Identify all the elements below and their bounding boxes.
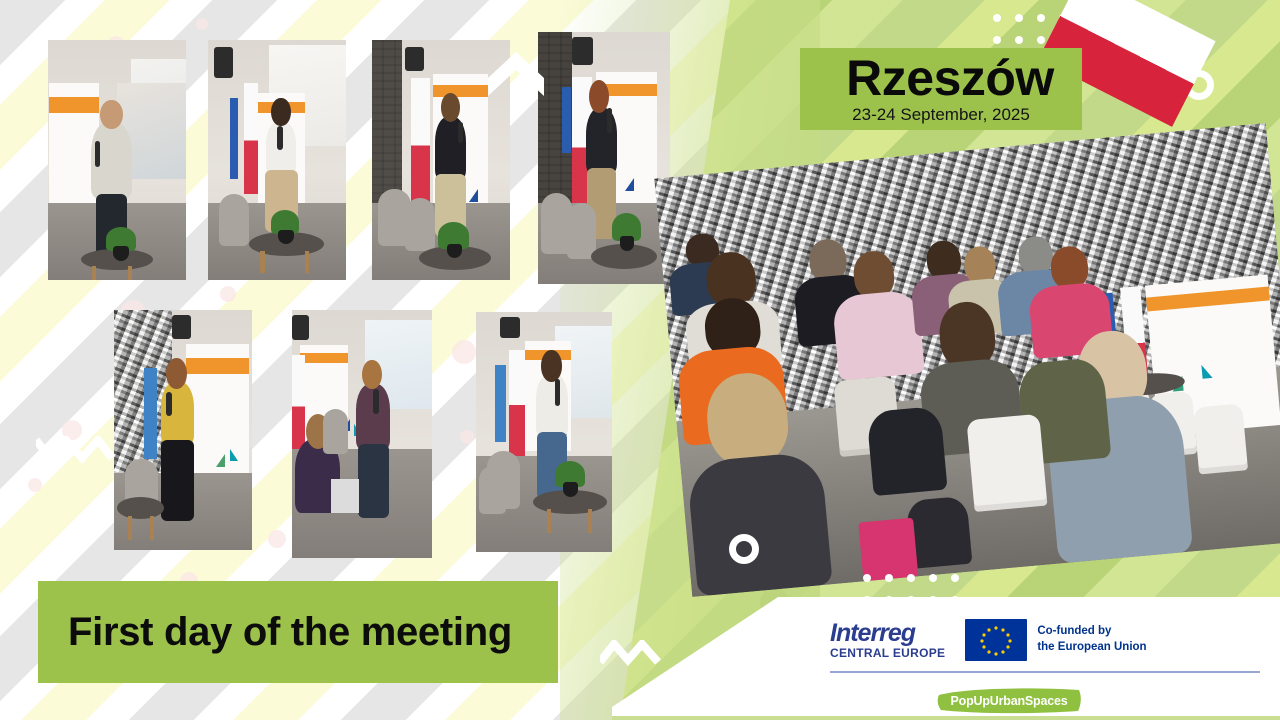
collage-photo-5: [114, 310, 252, 550]
slide-caption: First day of the meeting: [68, 610, 512, 655]
collage-photo-6: [292, 310, 432, 558]
city-title-banner: Rzeszów 23-24 September, 2025: [800, 48, 1082, 130]
collage-photo-2: [208, 40, 346, 280]
caption-banner: First day of the meeting: [38, 581, 558, 683]
footer-accent-line: [612, 716, 1280, 720]
interreg-logo: Interreg CENTRAL EUROPE: [830, 621, 945, 659]
eu-funding-line-1: Co-funded by: [1037, 624, 1146, 640]
interreg-subtitle: CENTRAL EUROPE: [830, 647, 945, 659]
eu-stars: [965, 619, 1027, 661]
zigzag-line-left: [36, 436, 116, 464]
zigzag-line-bottom: [600, 640, 664, 666]
event-dates: 23-24 September, 2025: [852, 105, 1030, 125]
city-name: Rzeszów: [846, 55, 1054, 103]
ring-outline-bottom: [729, 534, 759, 564]
chevron-up-icon: [488, 52, 544, 96]
eu-funding-text: Co-funded by the European Union: [1037, 624, 1146, 655]
decor-blob: [28, 478, 42, 492]
project-badge-label: PopUpUrbanSpaces: [935, 687, 1083, 714]
footer-divider: [830, 671, 1260, 673]
eu-funding-logo: Co-funded by the European Union: [965, 619, 1146, 661]
decor-blob: [460, 430, 474, 444]
collage-photo-1: [48, 40, 186, 280]
project-badge: PopUpUrbanSpaces: [935, 687, 1083, 714]
decor-blob: [452, 340, 476, 364]
collage-photo-8-audience: [654, 123, 1280, 597]
decor-blob: [196, 18, 208, 30]
footer-logo-row: Interreg CENTRAL EUROPE: [830, 619, 1147, 661]
decor-blob: [220, 286, 236, 302]
slide-canvas: Rzeszów 23-24 September, 2025 First day …: [0, 0, 1280, 720]
collage-photo-7: [476, 312, 612, 552]
eu-flag-icon: [965, 619, 1027, 661]
collage-photo-4: [538, 32, 670, 284]
interreg-wordmark: Interreg: [830, 621, 945, 646]
eu-funding-line-2: the European Union: [1037, 640, 1146, 656]
decor-blob: [268, 530, 286, 548]
